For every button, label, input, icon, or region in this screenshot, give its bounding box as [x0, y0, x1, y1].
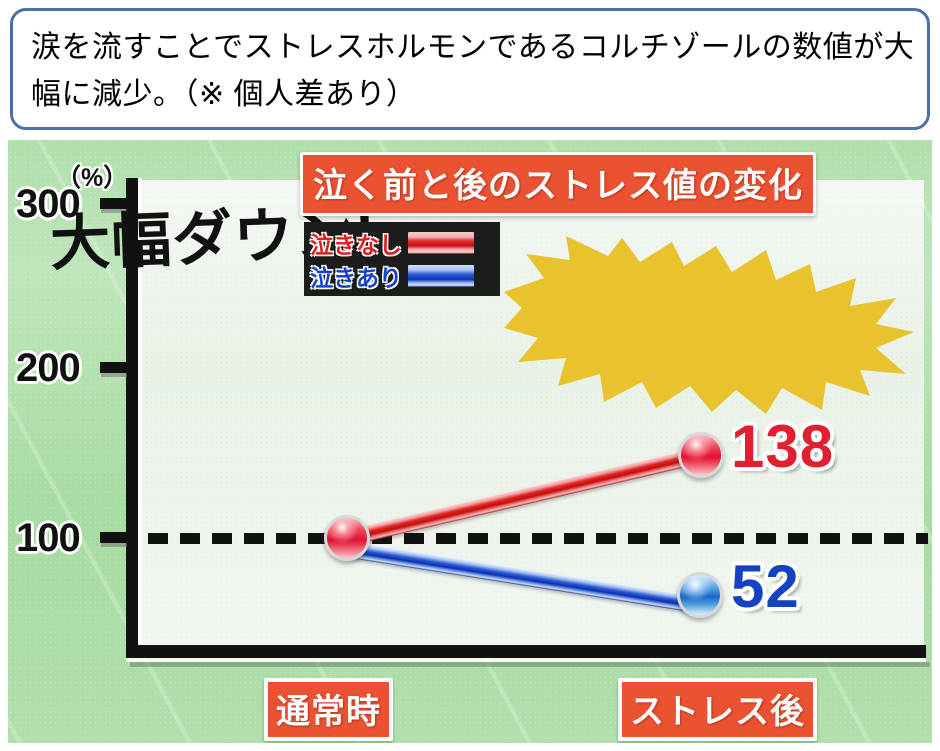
- legend-swatch-red: [408, 232, 474, 254]
- starburst-shape: [504, 236, 914, 416]
- chart-title-banner: 泣く前と後のストレス値の変化: [300, 152, 816, 216]
- caption-box: 涙を流すことでストレスホルモンであるコルチゾールの数値が大幅に減少。（※ 個人差…: [10, 8, 930, 130]
- x-axis-line: [126, 645, 926, 658]
- data-point-marker-blue-end[interactable]: [677, 572, 723, 618]
- value-label-blue: 52: [731, 552, 800, 621]
- legend-label-red: 泣きなし: [310, 226, 402, 260]
- y-tick-mark-100: [100, 532, 126, 543]
- legend-item-blue: 泣きあり: [310, 259, 494, 292]
- y-tick-label-100: 100: [16, 516, 80, 561]
- x-axis-label-after-stress: ストレス後: [618, 678, 817, 741]
- y-tick-mark-200: [100, 362, 126, 373]
- x-axis-label-normal: 通常時: [264, 678, 393, 741]
- baseline-100-dashed-line: [148, 533, 928, 544]
- legend-item-red: 泣きなし: [310, 226, 494, 259]
- x-axis-label-after-stress-text: ストレス後: [630, 684, 805, 733]
- caption-text: 涙を流すことでストレスホルモンであるコルチゾールの数値が大幅に減少。（※ 個人差…: [31, 25, 915, 118]
- value-label-red: 138: [731, 412, 834, 481]
- chart-title-text: 泣く前と後のストレス値の変化: [313, 158, 803, 207]
- legend-label-blue: 泣きあり: [310, 259, 402, 293]
- legend-swatch-blue: [408, 265, 474, 287]
- chart-legend: 泣きなし 泣きあり: [304, 222, 500, 296]
- x-axis-label-normal-text: 通常時: [276, 684, 381, 733]
- data-point-marker-red-end[interactable]: [678, 432, 724, 478]
- x-axis-shadow: [130, 662, 930, 667]
- chart-panel: （%） 300 200 100 大幅ダウン! 138 52: [8, 140, 932, 743]
- starburst-polygon: [504, 236, 914, 414]
- data-point-marker-origin[interactable]: [324, 515, 370, 561]
- y-tick-label-200: 200: [16, 346, 80, 391]
- screenshot-root: 涙を流すことでストレスホルモンであるコルチゾールの数値が大幅に減少。（※ 個人差…: [0, 0, 940, 751]
